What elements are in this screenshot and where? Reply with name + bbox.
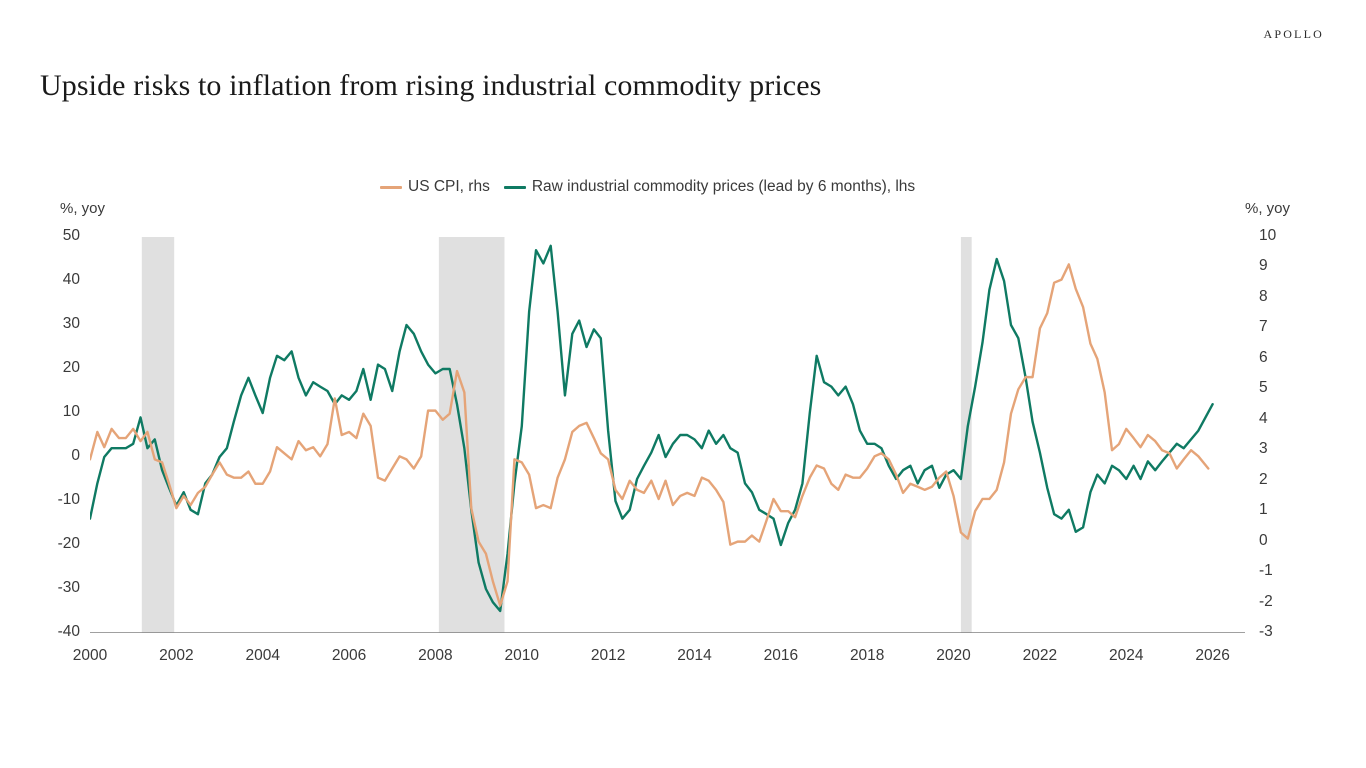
- y-axis-right-tick-label: 5: [1259, 379, 1299, 397]
- x-axis-tick-label: 2002: [136, 647, 216, 665]
- series-line: [90, 264, 1208, 605]
- x-axis-tick-label: 2016: [741, 647, 821, 665]
- x-axis-tick-label: 2014: [654, 647, 734, 665]
- y-axis-left-tick-label: -40: [28, 623, 80, 641]
- x-axis-tick-label: 2022: [1000, 647, 1080, 665]
- legend-swatch-us-cpi: [380, 186, 402, 189]
- y-axis-right-tick-label: 10: [1259, 227, 1299, 245]
- apollo-logo: APOLLO: [1263, 27, 1324, 42]
- y-axis-right-tick-label: 0: [1259, 532, 1299, 550]
- series-line: [90, 246, 1213, 611]
- x-axis-tick-label: 2024: [1086, 647, 1166, 665]
- legend-label-raw-industrial: Raw industrial commodity prices (lead by…: [532, 178, 915, 196]
- chart-svg: [90, 237, 1245, 633]
- legend-item-us-cpi[interactable]: US CPI, rhs: [380, 178, 490, 196]
- x-axis-tick-label: 2006: [309, 647, 389, 665]
- y-axis-right-tick-label: 1: [1259, 501, 1299, 519]
- y-axis-left-tick-label: 40: [28, 271, 80, 289]
- y-axis-left-tick-label: 50: [28, 227, 80, 245]
- x-axis-tick-label: 2012: [568, 647, 648, 665]
- right-axis-unit-label: %, yoy: [1245, 200, 1290, 217]
- y-axis-left-tick-label: 20: [28, 359, 80, 377]
- x-axis-tick-label: 2020: [914, 647, 994, 665]
- y-axis-right-tick-label: 9: [1259, 257, 1299, 275]
- x-axis-tick-label: 2008: [395, 647, 475, 665]
- y-axis-right-tick-label: 6: [1259, 349, 1299, 367]
- y-axis-right-tick-label: 4: [1259, 410, 1299, 428]
- x-axis-tick-label: 2004: [223, 647, 303, 665]
- x-axis-tick-label: 2010: [482, 647, 562, 665]
- y-axis-right-tick-label: 8: [1259, 288, 1299, 306]
- y-axis-right-tick-label: -2: [1259, 593, 1299, 611]
- x-axis-tick-label: 2000: [50, 647, 130, 665]
- y-axis-right-tick-label: -1: [1259, 562, 1299, 580]
- chart-plot-area: [90, 237, 1245, 633]
- legend-item-raw-industrial[interactable]: Raw industrial commodity prices (lead by…: [504, 178, 915, 196]
- legend-swatch-raw-industrial: [504, 186, 526, 189]
- chart-legend: US CPI, rhs Raw industrial commodity pri…: [380, 178, 915, 196]
- y-axis-right-tick-label: 7: [1259, 318, 1299, 336]
- y-axis-left-tick-label: -10: [28, 491, 80, 509]
- page-title: Upside risks to inflation from rising in…: [40, 69, 821, 103]
- recession-band: [439, 237, 505, 633]
- y-axis-left-tick-label: -30: [28, 579, 80, 597]
- y-axis-left-tick-label: 30: [28, 315, 80, 333]
- y-axis-right-tick-label: 3: [1259, 440, 1299, 458]
- left-axis-unit-label: %, yoy: [60, 200, 105, 217]
- x-axis-tick-label: 2026: [1173, 647, 1253, 665]
- y-axis-left-tick-label: -20: [28, 535, 80, 553]
- y-axis-right-tick-label: 2: [1259, 471, 1299, 489]
- recession-band: [142, 237, 174, 633]
- y-axis-left-tick-label: 10: [28, 403, 80, 421]
- y-axis-right-tick-label: -3: [1259, 623, 1299, 641]
- legend-label-us-cpi: US CPI, rhs: [408, 178, 490, 196]
- y-axis-left-tick-label: 0: [28, 447, 80, 465]
- x-axis-tick-label: 2018: [827, 647, 907, 665]
